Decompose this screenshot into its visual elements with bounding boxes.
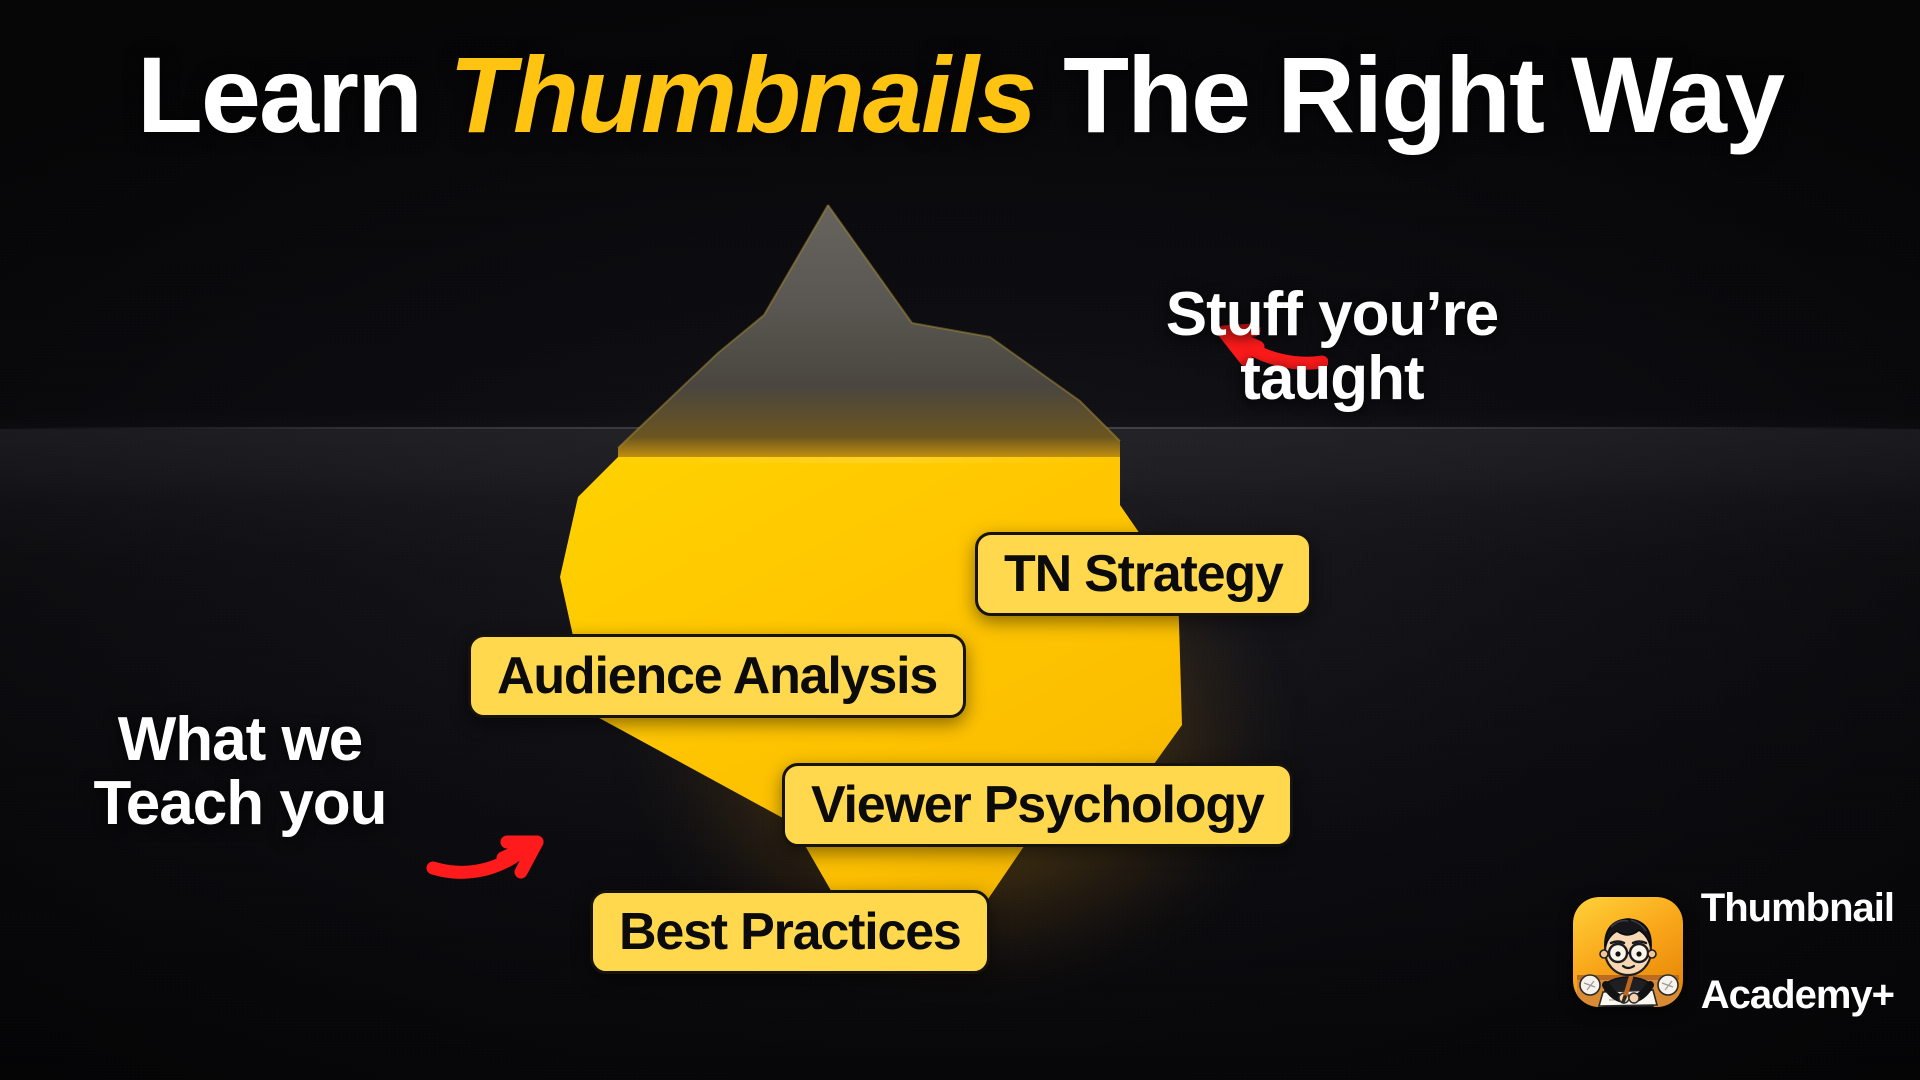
annotation-what-we-teach-you: What we Teach you	[93, 708, 386, 836]
annotation-stuff-line-2: taught	[1166, 347, 1498, 411]
tag-audience-analysis[interactable]: Audience Analysis	[468, 634, 966, 718]
student-studying-avatar-icon	[1573, 897, 1683, 1007]
tag-label: Audience Analysis	[497, 646, 937, 706]
annotation-stuff-youre-taught: Stuff you’re taught	[1166, 283, 1498, 411]
curved-arrow-right-icon	[425, 820, 565, 900]
tag-label: Best Practices	[619, 902, 961, 962]
title-part-2: The Right Way	[1035, 34, 1783, 155]
tag-tn-strategy[interactable]: TN Strategy	[975, 532, 1312, 616]
tag-label: Viewer Psychology	[811, 775, 1264, 835]
annotation-teach-line-1: What we	[93, 708, 386, 772]
brand-logo: Thumbnail Academy+	[1573, 844, 1894, 1060]
brand-name: Thumbnail Academy+	[1701, 844, 1894, 1060]
annotation-teach-line-2: Teach you	[93, 772, 386, 836]
page-title: Learn Thumbnails The Right Way	[0, 38, 1920, 151]
thumbnail-canvas: Learn Thumbnails The Right Way Stuff you…	[0, 0, 1920, 1080]
title-accent-word: Thumbnails	[449, 34, 1035, 155]
tag-viewer-psychology[interactable]: Viewer Psychology	[782, 763, 1293, 847]
brand-name-line-1: Thumbnail	[1701, 887, 1894, 930]
tag-label: TN Strategy	[1004, 544, 1283, 604]
brand-name-line-2: Academy+	[1701, 974, 1894, 1017]
iceberg-tip-shape	[618, 205, 1120, 457]
title-part-1: Learn	[137, 34, 449, 155]
tag-best-practices[interactable]: Best Practices	[590, 890, 990, 974]
iceberg-waterline-glint	[618, 457, 1120, 463]
annotation-stuff-line-1: Stuff you’re	[1166, 283, 1498, 347]
